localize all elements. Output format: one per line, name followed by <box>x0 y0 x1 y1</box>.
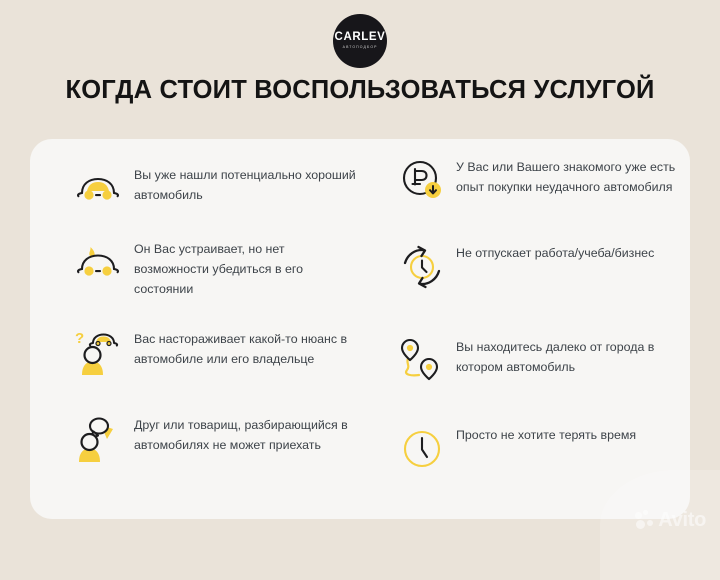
list-item-label: Не отпускает работа/учеба/бизнес <box>456 241 654 263</box>
car-icon <box>68 163 128 215</box>
avito-watermark: Avito <box>635 510 706 530</box>
person-speech-bubble-icon <box>68 413 128 465</box>
clock-refresh-icon <box>392 241 452 293</box>
logo-badge: CARLEV АВТОПОДБОР <box>333 14 387 68</box>
watermark-label: Avito <box>658 510 706 530</box>
ruble-coin-down-arrow-icon <box>392 155 452 207</box>
list-item: Он Вас устраивает, но нет возможности уб… <box>68 237 358 299</box>
list-item-label: Вы находитесь далеко от города в котором… <box>456 335 692 377</box>
list-item: Вы уже нашли потенциально хороший автомо… <box>68 163 358 215</box>
avito-dots-icon <box>635 510 655 530</box>
page-title: КОГДА СТОИТ ВОСПОЛЬЗОВАТЬСЯ УСЛУГОЙ <box>0 76 720 105</box>
list-item: Друг или товарищ, разбирающийся в автомо… <box>68 413 358 465</box>
list-item: Вы находитесь далеко от города в котором… <box>392 335 692 387</box>
right-column: У Вас или Вашего знакомого уже есть опыт… <box>360 139 690 519</box>
list-item: Не отпускает работа/учеба/бизнес <box>392 241 692 293</box>
list-item: Просто не хотите терять время <box>392 423 692 475</box>
logo-wordmark: CARLEV <box>335 32 386 44</box>
person-question-car-icon: ? <box>68 327 128 379</box>
clock-icon <box>392 423 452 475</box>
list-item-label: Он Вас устраивает, но нет возможности уб… <box>134 237 358 299</box>
list-item: У Вас или Вашего знакомого уже есть опыт… <box>392 155 692 207</box>
left-column: Вы уже нашли потенциально хороший автомо… <box>30 139 360 519</box>
list-item: ? Вас настораживает какой-то нюанс в авт… <box>68 327 358 379</box>
car-smoke-icon <box>68 237 128 289</box>
list-item-label: Просто не хотите терять время <box>456 423 636 445</box>
list-item-label: У Вас или Вашего знакомого уже есть опыт… <box>456 155 692 197</box>
list-item-label: Друг или товарищ, разбирающийся в автомо… <box>134 413 358 455</box>
benefits-card: Вы уже нашли потенциально хороший автомо… <box>30 139 690 519</box>
svg-text:?: ? <box>75 330 84 347</box>
list-item-label: Вы уже нашли потенциально хороший автомо… <box>134 163 358 205</box>
list-item-label: Вас настораживает какой-то нюанс в автом… <box>134 327 358 369</box>
logo-tagline: АВТОПОДБОР <box>343 46 378 49</box>
map-route-pins-icon <box>392 335 452 387</box>
brand-logo: CARLEV АВТОПОДБОР <box>0 14 720 68</box>
